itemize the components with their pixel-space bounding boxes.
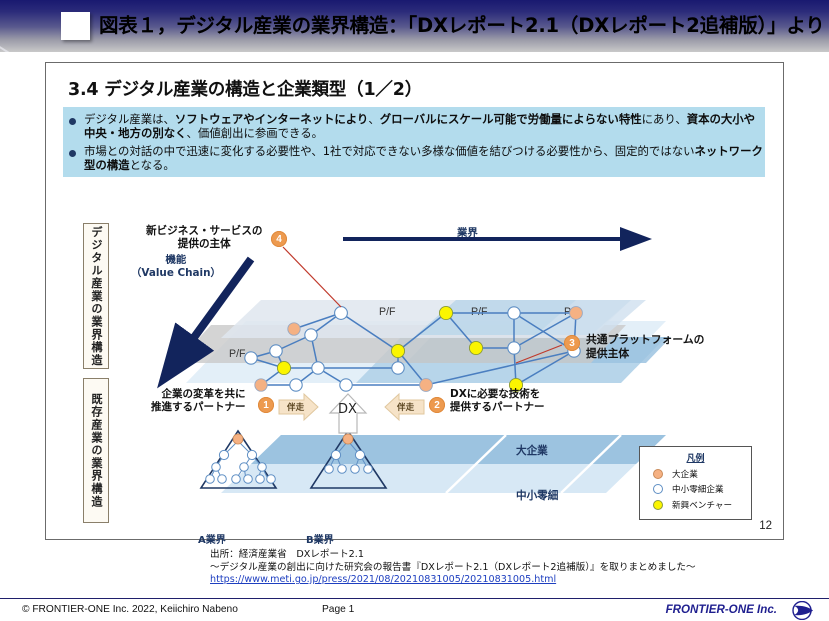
legend-dot-icon	[653, 469, 663, 479]
source-line-1: 出所：経済産業省 DXレポート2.1	[210, 549, 770, 562]
source-line-2: ～デジタル産業の創出に向けた研究会の報告書『DXレポート2.1（DXレポート2追…	[210, 562, 770, 575]
legend-item: 新興ベンチャー	[653, 499, 751, 511]
page-title: 図表１，デジタル産業の業界構造：「DXレポート2.1（DXレポート2追補版）」よ…	[99, 9, 825, 38]
legend-dot-icon	[653, 484, 663, 494]
stripe-decoration	[0, 46, 109, 52]
label-new-business-provider: 新ビジネス・サービスの提供の主体	[146, 225, 263, 251]
frontier-one-logo-icon	[783, 601, 821, 620]
callout-line-4	[283, 247, 341, 307]
stripe-decoration	[0, 40, 101, 52]
legend-item-label: 大企業	[672, 468, 698, 480]
footer-brand-name: FRONTIER-ONE Inc.	[666, 603, 777, 616]
label-partner-transformation: 企業の変革を共に推進するパートナー	[151, 388, 246, 414]
label-dx: DX	[338, 402, 357, 417]
label-industry-axis: 業界	[457, 224, 478, 239]
legend-item: 中小零細企業	[653, 483, 751, 495]
label-industry-a: A業界	[198, 531, 226, 546]
step-badge-4: 4	[271, 231, 287, 247]
pf-label: P/F	[379, 306, 396, 318]
legend-item: 大企業	[653, 468, 751, 480]
legend-title: 凡例	[640, 451, 751, 464]
legend-box: 凡例 大企業 中小零細企業 新興ベンチャー	[639, 446, 752, 520]
slide-page-number: 12	[759, 520, 772, 532]
footer-page-number: Page 1	[322, 604, 354, 615]
title-square-icon	[61, 12, 90, 40]
label-large-enterprise: 大企業	[516, 443, 548, 458]
label-partner-technology: DXに必要な技術を提供するパートナー	[450, 388, 545, 414]
step-badge-2: 2	[429, 397, 445, 413]
bansou-left-text: 伴走	[286, 401, 305, 413]
legend-dot-icon	[653, 500, 663, 510]
pf-label: P/F	[229, 348, 246, 360]
industry-structure-diagram: P/F P/F P/F P/F	[46, 63, 785, 541]
label-small-enterprise: 中小零細	[516, 488, 558, 503]
source-link[interactable]: https://www.meti.go.jp/press/2021/08/202…	[210, 574, 556, 585]
footer-copyright: © FRONTIER-ONE Inc. 2022, Keiichiro Nabe…	[22, 604, 238, 615]
source-citation: 出所：経済産業省 DXレポート2.1 ～デジタル産業の創出に向けた研究会の報告書…	[210, 549, 770, 587]
label-value-chain: 機能（Value Chain）	[131, 254, 221, 279]
bansou-right-text: 伴走	[396, 401, 415, 413]
pf-label: P/F	[471, 306, 488, 318]
legend-item-label: 中小零細企業	[672, 483, 724, 495]
existing-industry-plane-upper	[251, 435, 666, 464]
node-large-enterprise	[343, 434, 353, 444]
label-industry-b: B業界	[306, 531, 334, 546]
slide-frame: 3.4 デジタル産業の構造と企業類型（1／2） デジタル産業は、ソフトウェアやイ…	[45, 62, 784, 540]
step-badge-3: 3	[564, 335, 580, 351]
node-large-enterprise	[233, 434, 243, 444]
legend-item-label: 新興ベンチャー	[672, 499, 732, 511]
label-platform-provider: 共通プラットフォームの提供主体	[586, 333, 704, 360]
title-bar: 図表１，デジタル産業の業界構造：「DXレポート2.1（DXレポート2追補版）」よ…	[0, 0, 829, 52]
step-badge-1: 1	[258, 397, 274, 413]
footer-bar: © FRONTIER-ONE Inc. 2022, Keiichiro Nabe…	[0, 600, 829, 621]
